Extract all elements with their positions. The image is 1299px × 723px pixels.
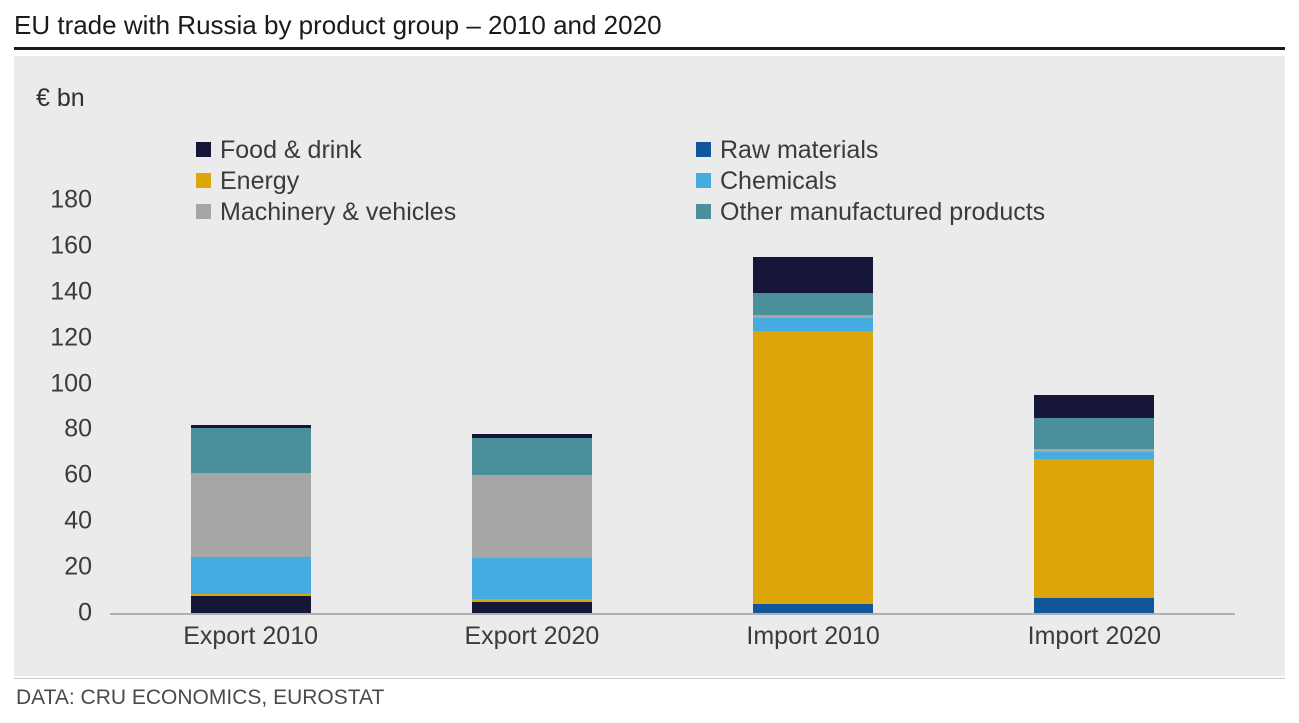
stacked-bar[interactable] bbox=[753, 257, 873, 613]
legend-item[interactable]: Raw materials bbox=[696, 136, 1196, 164]
legend-item[interactable]: Energy bbox=[196, 167, 696, 195]
x-axis-category-label: Import 2020 bbox=[954, 622, 1235, 651]
legend-swatch-icon bbox=[696, 142, 711, 157]
bar-segment[interactable] bbox=[191, 557, 311, 594]
y-axis-tick-label: 40 bbox=[12, 507, 92, 536]
stacked-bar[interactable] bbox=[191, 425, 311, 613]
bar-segment[interactable] bbox=[472, 602, 592, 613]
bar-segment[interactable] bbox=[472, 558, 592, 599]
bar-group[interactable] bbox=[753, 200, 873, 613]
legend-item-label: Energy bbox=[220, 167, 299, 195]
legend-item[interactable]: Chemicals bbox=[696, 167, 1196, 195]
bar-segment[interactable] bbox=[191, 596, 311, 613]
chart-page: EU trade with Russia by product group – … bbox=[0, 0, 1299, 723]
bar-segment[interactable] bbox=[1034, 452, 1154, 459]
y-axis-tick-label: 0 bbox=[12, 599, 92, 628]
y-axis-tick-label: 20 bbox=[12, 553, 92, 582]
bar-series-area bbox=[110, 200, 1235, 613]
y-axis-tick-label: 180 bbox=[12, 186, 92, 215]
y-axis-tick-label: 100 bbox=[12, 369, 92, 398]
bar-segment[interactable] bbox=[472, 475, 592, 558]
bar-segment[interactable] bbox=[753, 318, 873, 331]
x-axis-line bbox=[110, 613, 1235, 615]
bar-group[interactable] bbox=[472, 200, 592, 613]
bar-segment[interactable] bbox=[191, 473, 311, 557]
legend-item[interactable]: Food & drink bbox=[196, 136, 696, 164]
x-axis-category-label: Export 2020 bbox=[391, 622, 672, 651]
bar-segment[interactable] bbox=[753, 331, 873, 604]
bar-segment[interactable] bbox=[753, 604, 873, 613]
legend-swatch-icon bbox=[196, 173, 211, 188]
bar-group[interactable] bbox=[191, 200, 311, 613]
legend-item-label: Raw materials bbox=[720, 136, 878, 164]
y-axis-tick-label: 120 bbox=[12, 323, 92, 352]
bar-segment[interactable] bbox=[472, 438, 592, 476]
source-note: DATA: CRU ECONOMICS, EUROSTAT bbox=[16, 686, 384, 710]
legend-swatch-icon bbox=[696, 173, 711, 188]
y-axis-tick-label: 80 bbox=[12, 415, 92, 444]
bar-segment[interactable] bbox=[753, 257, 873, 293]
bar-segment[interactable] bbox=[1034, 395, 1154, 418]
stacked-bar[interactable] bbox=[1034, 395, 1154, 613]
y-axis-unit-label: € bn bbox=[36, 84, 85, 113]
y-axis-tick-label: 60 bbox=[12, 461, 92, 490]
x-axis-category-label: Export 2010 bbox=[110, 622, 391, 651]
legend-item-label: Food & drink bbox=[220, 136, 362, 164]
title-rule: EU trade with Russia by product group – … bbox=[14, 8, 1285, 50]
footer-divider bbox=[14, 678, 1285, 679]
bar-segment[interactable] bbox=[753, 293, 873, 315]
bar-segment[interactable] bbox=[1034, 459, 1154, 598]
bar-segment[interactable] bbox=[191, 428, 311, 473]
page-title: EU trade with Russia by product group – … bbox=[14, 8, 1285, 42]
bar-segment[interactable] bbox=[1034, 418, 1154, 449]
bar-segment[interactable] bbox=[1034, 598, 1154, 613]
legend-swatch-icon bbox=[196, 142, 211, 157]
y-axis-tick-label: 140 bbox=[12, 277, 92, 306]
stacked-bar[interactable] bbox=[472, 434, 592, 613]
x-axis-category-label: Import 2010 bbox=[673, 622, 954, 651]
y-axis-tick-label: 160 bbox=[12, 231, 92, 260]
legend-item-label: Chemicals bbox=[720, 167, 837, 195]
bar-group[interactable] bbox=[1034, 200, 1154, 613]
